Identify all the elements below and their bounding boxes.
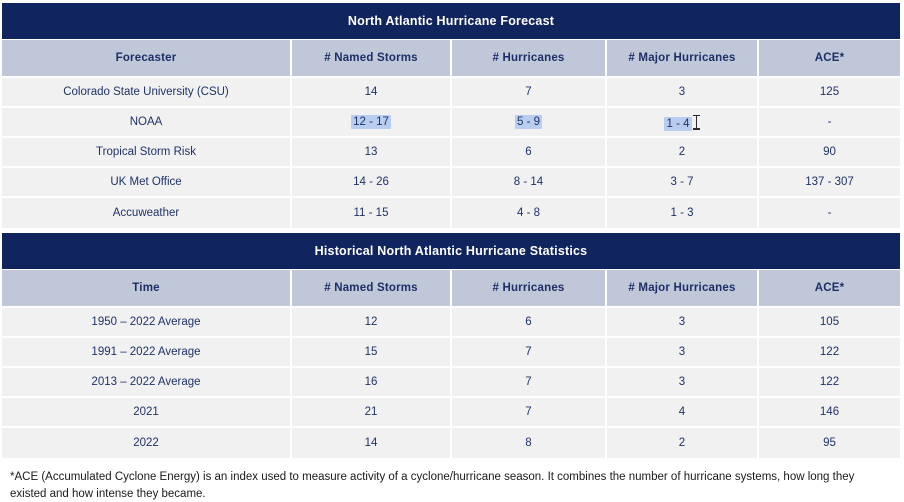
major-hurricanes-value[interactable]: 2 [607, 428, 759, 458]
named-storms-value[interactable]: 14 [292, 78, 452, 108]
forecast-col-major-hurricanes[interactable]: # Major Hurricanes [607, 40, 759, 78]
hurricanes-value[interactable]: 6 [452, 138, 607, 168]
named-storms-value[interactable]: 14 [292, 428, 452, 458]
forecast-col-forecaster[interactable]: Forecaster [2, 40, 292, 78]
hurricanes-value[interactable]: 4 - 8 [452, 198, 607, 228]
forecaster-name[interactable]: UK Met Office [2, 168, 292, 198]
named-storms-value[interactable]: 12 [292, 308, 452, 338]
historical-col-ace[interactable]: ACE* [759, 270, 900, 308]
major-hurricanes-value[interactable]: 1 - 3 [607, 198, 759, 228]
ace-value[interactable]: 95 [759, 428, 900, 458]
major-hurricanes-value[interactable]: 3 - 7 [607, 168, 759, 198]
ace-footnote: *ACE (Accumulated Cyclone Energy) is an … [2, 469, 900, 502]
forecast-col-hurricanes[interactable]: # Hurricanes [452, 40, 607, 78]
historical-col-time[interactable]: Time [2, 270, 292, 308]
hurricanes-value[interactable]: 7 [452, 368, 607, 398]
table-row: Accuweather 11 - 15 4 - 8 1 - 3 - [2, 198, 900, 228]
selected-text[interactable]: 5 - 9 [515, 115, 542, 129]
major-hurricanes-value[interactable]: 3 [607, 368, 759, 398]
named-storms-value[interactable]: 21 [292, 398, 452, 428]
major-hurricanes-value[interactable]: 1 - 4 [607, 108, 759, 138]
major-hurricanes-value[interactable]: 3 [607, 338, 759, 368]
hurricanes-value[interactable]: 6 [452, 308, 607, 338]
hurricanes-value[interactable]: 7 [452, 398, 607, 428]
page-root: North Atlantic Hurricane Forecast Foreca… [0, 0, 904, 492]
ace-value[interactable]: 122 [759, 338, 900, 368]
historical-col-named-storms[interactable]: # Named Storms [292, 270, 452, 308]
hurricanes-value[interactable]: 7 [452, 338, 607, 368]
forecast-table-title: North Atlantic Hurricane Forecast [2, 3, 900, 40]
named-storms-value[interactable]: 14 - 26 [292, 168, 452, 198]
historical-table-title: Historical North Atlantic Hurricane Stat… [2, 233, 900, 270]
ace-value[interactable]: 105 [759, 308, 900, 338]
historical-col-hurricanes[interactable]: # Hurricanes [452, 270, 607, 308]
forecast-table: North Atlantic Hurricane Forecast Foreca… [2, 3, 900, 228]
ace-value[interactable]: 125 [759, 78, 900, 108]
table-row: 2013 – 2022 Average 16 7 3 122 [2, 368, 900, 398]
hurricanes-value[interactable]: 7 [452, 78, 607, 108]
table-row: 1991 – 2022 Average 15 7 3 122 [2, 338, 900, 368]
hurricanes-value[interactable]: 8 [452, 428, 607, 458]
text-cursor-icon [693, 115, 700, 130]
historical-table: Historical North Atlantic Hurricane Stat… [2, 233, 900, 458]
hurricanes-value[interactable]: 5 - 9 [452, 108, 607, 138]
historical-header-row: Time # Named Storms # Hurricanes # Major… [2, 270, 900, 308]
named-storms-value[interactable]: 12 - 17 [292, 108, 452, 138]
named-storms-value[interactable]: 13 [292, 138, 452, 168]
named-storms-value[interactable]: 16 [292, 368, 452, 398]
forecaster-name[interactable]: Tropical Storm Risk [2, 138, 292, 168]
forecaster-name[interactable]: Colorado State University (CSU) [2, 78, 292, 108]
named-storms-value[interactable]: 15 [292, 338, 452, 368]
table-row: UK Met Office 14 - 26 8 - 14 3 - 7 137 -… [2, 168, 900, 198]
major-hurricanes-value[interactable]: 3 [607, 308, 759, 338]
table-row: 1950 – 2022 Average 12 6 3 105 [2, 308, 900, 338]
table-row: NOAA 12 - 17 5 - 9 1 - 4 - [2, 108, 900, 138]
time-period[interactable]: 1991 – 2022 Average [2, 338, 292, 368]
forecast-col-named-storms[interactable]: # Named Storms [292, 40, 452, 78]
named-storms-value[interactable]: 11 - 15 [292, 198, 452, 228]
historical-col-major-hurricanes[interactable]: # Major Hurricanes [607, 270, 759, 308]
table-row: 2022 14 8 2 95 [2, 428, 900, 458]
forecaster-name[interactable]: Accuweather [2, 198, 292, 228]
table-row: 2021 21 7 4 146 [2, 398, 900, 428]
forecaster-name[interactable]: NOAA [2, 108, 292, 138]
ace-value[interactable]: 146 [759, 398, 900, 428]
ace-value[interactable]: 137 - 307 [759, 168, 900, 198]
forecast-col-ace[interactable]: ACE* [759, 40, 900, 78]
ace-value[interactable]: 122 [759, 368, 900, 398]
ace-value[interactable]: - [759, 108, 900, 138]
table-row: Colorado State University (CSU) 14 7 3 1… [2, 78, 900, 108]
selected-text[interactable]: 12 - 17 [351, 115, 391, 129]
ace-value[interactable]: - [759, 198, 900, 228]
time-period[interactable]: 1950 – 2022 Average [2, 308, 292, 338]
time-period[interactable]: 2022 [2, 428, 292, 458]
time-period[interactable]: 2021 [2, 398, 292, 428]
hurricanes-value[interactable]: 8 - 14 [452, 168, 607, 198]
major-hurricanes-value[interactable]: 4 [607, 398, 759, 428]
forecast-header-row: Forecaster # Named Storms # Hurricanes #… [2, 40, 900, 78]
major-hurricanes-value[interactable]: 2 [607, 138, 759, 168]
selected-text[interactable]: 1 - 4 [664, 117, 691, 131]
time-period[interactable]: 2013 – 2022 Average [2, 368, 292, 398]
historical-banner-row: Historical North Atlantic Hurricane Stat… [2, 233, 900, 270]
forecast-banner-row: North Atlantic Hurricane Forecast [2, 3, 900, 40]
ace-value[interactable]: 90 [759, 138, 900, 168]
major-hurricanes-value[interactable]: 3 [607, 78, 759, 108]
table-row: Tropical Storm Risk 13 6 2 90 [2, 138, 900, 168]
